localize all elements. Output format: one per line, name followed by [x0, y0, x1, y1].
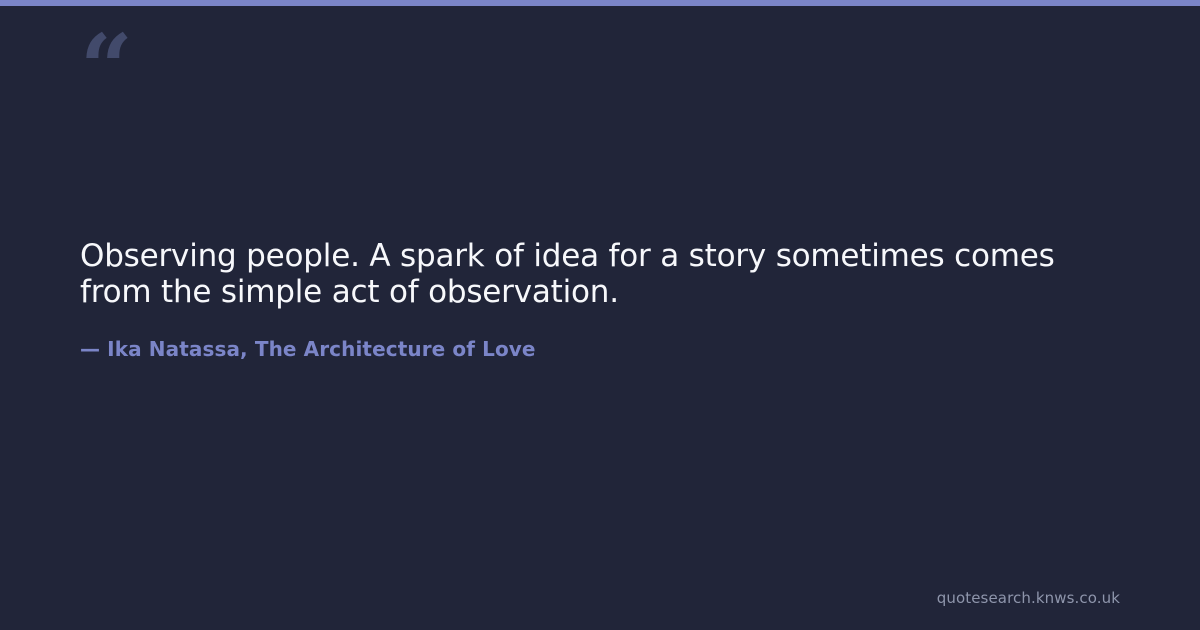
- quote-text: Observing people. A spark of idea for a …: [80, 238, 1110, 310]
- quote-card: “ Observing people. A spark of idea for …: [0, 0, 1200, 630]
- site-watermark: quotesearch.knws.co.uk: [937, 588, 1120, 608]
- quote-content-area: “ Observing people. A spark of idea for …: [80, 0, 1120, 630]
- opening-double-quotation-mark-icon: “: [80, 22, 131, 114]
- quote-block: Observing people. A spark of idea for a …: [80, 238, 1120, 362]
- quote-attribution: — Ika Natassa, The Architecture of Love: [80, 310, 1120, 362]
